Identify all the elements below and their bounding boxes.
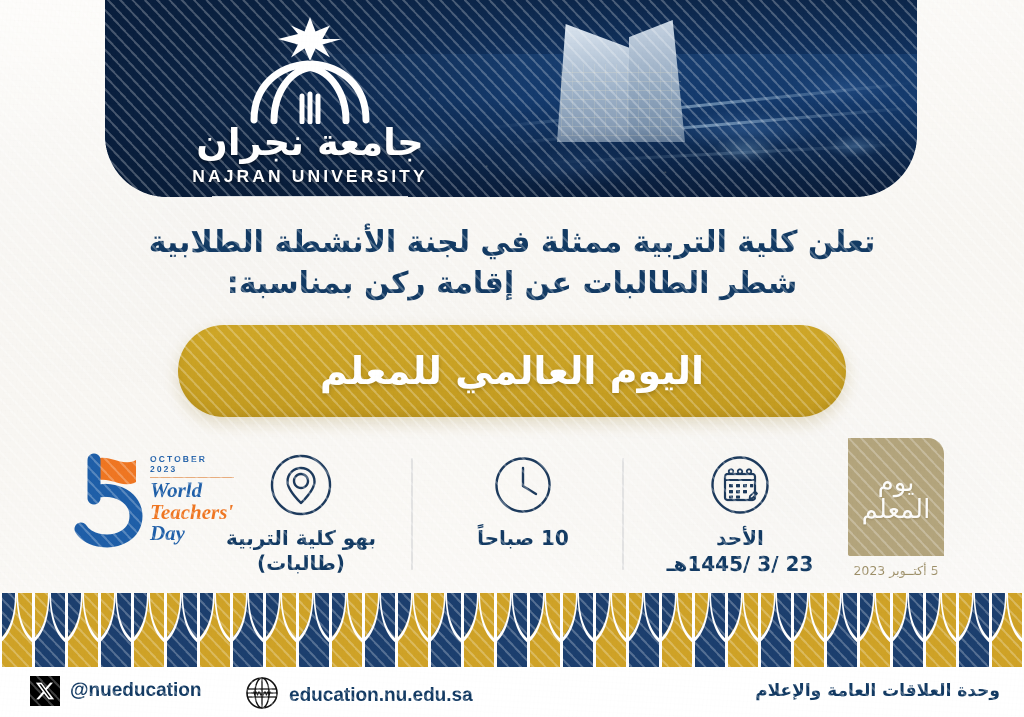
chevron-unit — [396, 593, 429, 667]
chevron-gutter — [263, 593, 266, 667]
chevron-unit — [165, 593, 198, 667]
chevron-gutter — [956, 593, 959, 667]
chevron-gutter — [329, 593, 332, 667]
chevron-gutter — [758, 593, 761, 667]
chevron-unit — [330, 593, 363, 667]
website-url: education.nu.edu.sa — [289, 685, 473, 707]
chevron-gutter — [395, 593, 398, 667]
chevron-unit — [297, 593, 330, 667]
wtd-month-year: OCTOBER 2023 — [150, 454, 234, 474]
calendar-icon — [640, 450, 840, 520]
chevron-unit — [561, 593, 594, 667]
chevron-gutter — [593, 593, 596, 667]
seal-gold-box: يوم المعلم — [848, 438, 944, 556]
chevron-unit — [99, 593, 132, 667]
seal-calligraphy: يوم المعلم — [848, 438, 944, 556]
chevron-gutter — [296, 593, 299, 667]
chevron-unit — [264, 593, 297, 667]
headline-line-2: شطر الطالبات عن إقامة ركن بمناسبة: — [112, 263, 912, 304]
university-name-english: NAJRAN UNIVERSITY — [145, 166, 475, 187]
chevron-gutter — [659, 593, 662, 667]
chevron-unit — [495, 593, 528, 667]
chevron-gutter — [527, 593, 530, 667]
x-twitter-icon — [30, 676, 60, 706]
header-panel: جامعة نجران NAJRAN UNIVERSITY كليـــــــ… — [105, 0, 917, 197]
footer-x-account[interactable]: @nueducation — [30, 676, 201, 706]
chevron-unit — [627, 593, 660, 667]
event-title: اليوم العالمي للمعلم — [320, 349, 704, 393]
chevron-gutter — [32, 593, 35, 667]
chevron-gutter — [692, 593, 695, 667]
najran-arcs-icon — [244, 60, 376, 124]
chevron-unit — [33, 593, 66, 667]
chevron-unit — [594, 593, 627, 667]
poster-canvas: جامعة نجران NAJRAN UNIVERSITY كليـــــــ… — [0, 0, 1024, 717]
chevron-gutter — [131, 593, 134, 667]
chevron-unit — [924, 593, 957, 667]
svg-text:www: www — [252, 689, 271, 698]
wtd-five-flag-icon — [74, 452, 148, 548]
logo-divider — [212, 196, 408, 197]
chevron-gutter — [461, 593, 464, 667]
chevron-unit — [825, 593, 858, 667]
clock-icon — [428, 450, 618, 520]
chevron-gutter — [890, 593, 893, 667]
teachers-day-seal: يوم المعلم 5 أكتــوبر 2023 — [826, 438, 966, 578]
chevron-unit — [957, 593, 990, 667]
chevron-gutter — [923, 593, 926, 667]
chevron-unit — [759, 593, 792, 667]
chevron-gutter — [725, 593, 728, 667]
chevron-unit — [0, 593, 33, 667]
chevron-unit — [66, 593, 99, 667]
event-title-banner: اليوم العالمي للمعلم — [178, 325, 846, 417]
chevron-unit — [363, 593, 396, 667]
chevron-unit — [528, 593, 561, 667]
www-globe-icon: www — [245, 676, 279, 715]
decorative-chevron-strip — [0, 593, 1024, 667]
info-cell-time: 10 صباحاً — [428, 450, 618, 551]
headline: تعلن كلية التربية ممثلة في لجنة الأنشطة … — [112, 222, 912, 305]
chevron-unit — [231, 593, 264, 667]
chevron-unit — [660, 593, 693, 667]
chevron-gutter — [65, 593, 68, 667]
chevron-gutter — [164, 593, 167, 667]
chevron-gutter — [197, 593, 200, 667]
university-name-arabic: جامعة نجران — [145, 124, 475, 161]
wtd-line-day: Day — [150, 523, 234, 544]
chevron-unit — [198, 593, 231, 667]
seal-date: 5 أكتــوبر 2023 — [826, 563, 966, 578]
footer: @nueducation www education.nu.edu.sa وحد… — [0, 667, 1024, 717]
chevron-gutter — [857, 593, 860, 667]
university-logo-mark — [145, 14, 475, 126]
date-day-label: الأحد — [640, 526, 840, 551]
university-logo: جامعة نجران NAJRAN UNIVERSITY كليـــــــ… — [145, 14, 475, 197]
time-label: 10 صباحاً — [428, 526, 618, 551]
wtd-text-block: OCTOBER 2023 World Teachers' Day — [150, 454, 234, 544]
najran-eight-point-star-icon — [274, 16, 346, 62]
chevron-unit — [891, 593, 924, 667]
chevron-unit — [462, 593, 495, 667]
chevron-gutter — [494, 593, 497, 667]
chevron-gutter — [560, 593, 563, 667]
world-teachers-day-logo: OCTOBER 2023 World Teachers' Day — [74, 450, 224, 550]
info-cell-date: الأحد 23 /3 /1445هـ — [640, 450, 840, 577]
chevron-gutter — [428, 593, 431, 667]
wtd-line-world: World — [150, 480, 234, 501]
chevron-gutter — [230, 593, 233, 667]
chevron-unit — [693, 593, 726, 667]
chevron-unit — [792, 593, 825, 667]
date-hijri-label: 23 /3 /1445هـ — [640, 552, 840, 577]
footer-website[interactable]: www education.nu.edu.sa — [245, 676, 473, 715]
chevron-gutter — [98, 593, 101, 667]
headline-line-1: تعلن كلية التربية ممثلة في لجنة الأنشطة … — [112, 222, 912, 263]
chevron-unit — [429, 593, 462, 667]
chevron-gutter — [0, 593, 2, 667]
info-divider — [622, 458, 624, 570]
chevron-gutter — [362, 593, 365, 667]
chevron-gutter — [791, 593, 794, 667]
footer-department: وحدة العلاقات العامة والإعلام — [755, 681, 1000, 701]
wtd-line-teachers: Teachers' — [150, 502, 234, 523]
chevron-unit — [726, 593, 759, 667]
chevron-unit — [132, 593, 165, 667]
chevron-unit — [990, 593, 1023, 667]
x-handle: @nueducation — [70, 680, 201, 702]
chevron-unit — [858, 593, 891, 667]
chevron-gutter — [989, 593, 992, 667]
chevron-gutter — [626, 593, 629, 667]
chevron-gutter — [824, 593, 827, 667]
